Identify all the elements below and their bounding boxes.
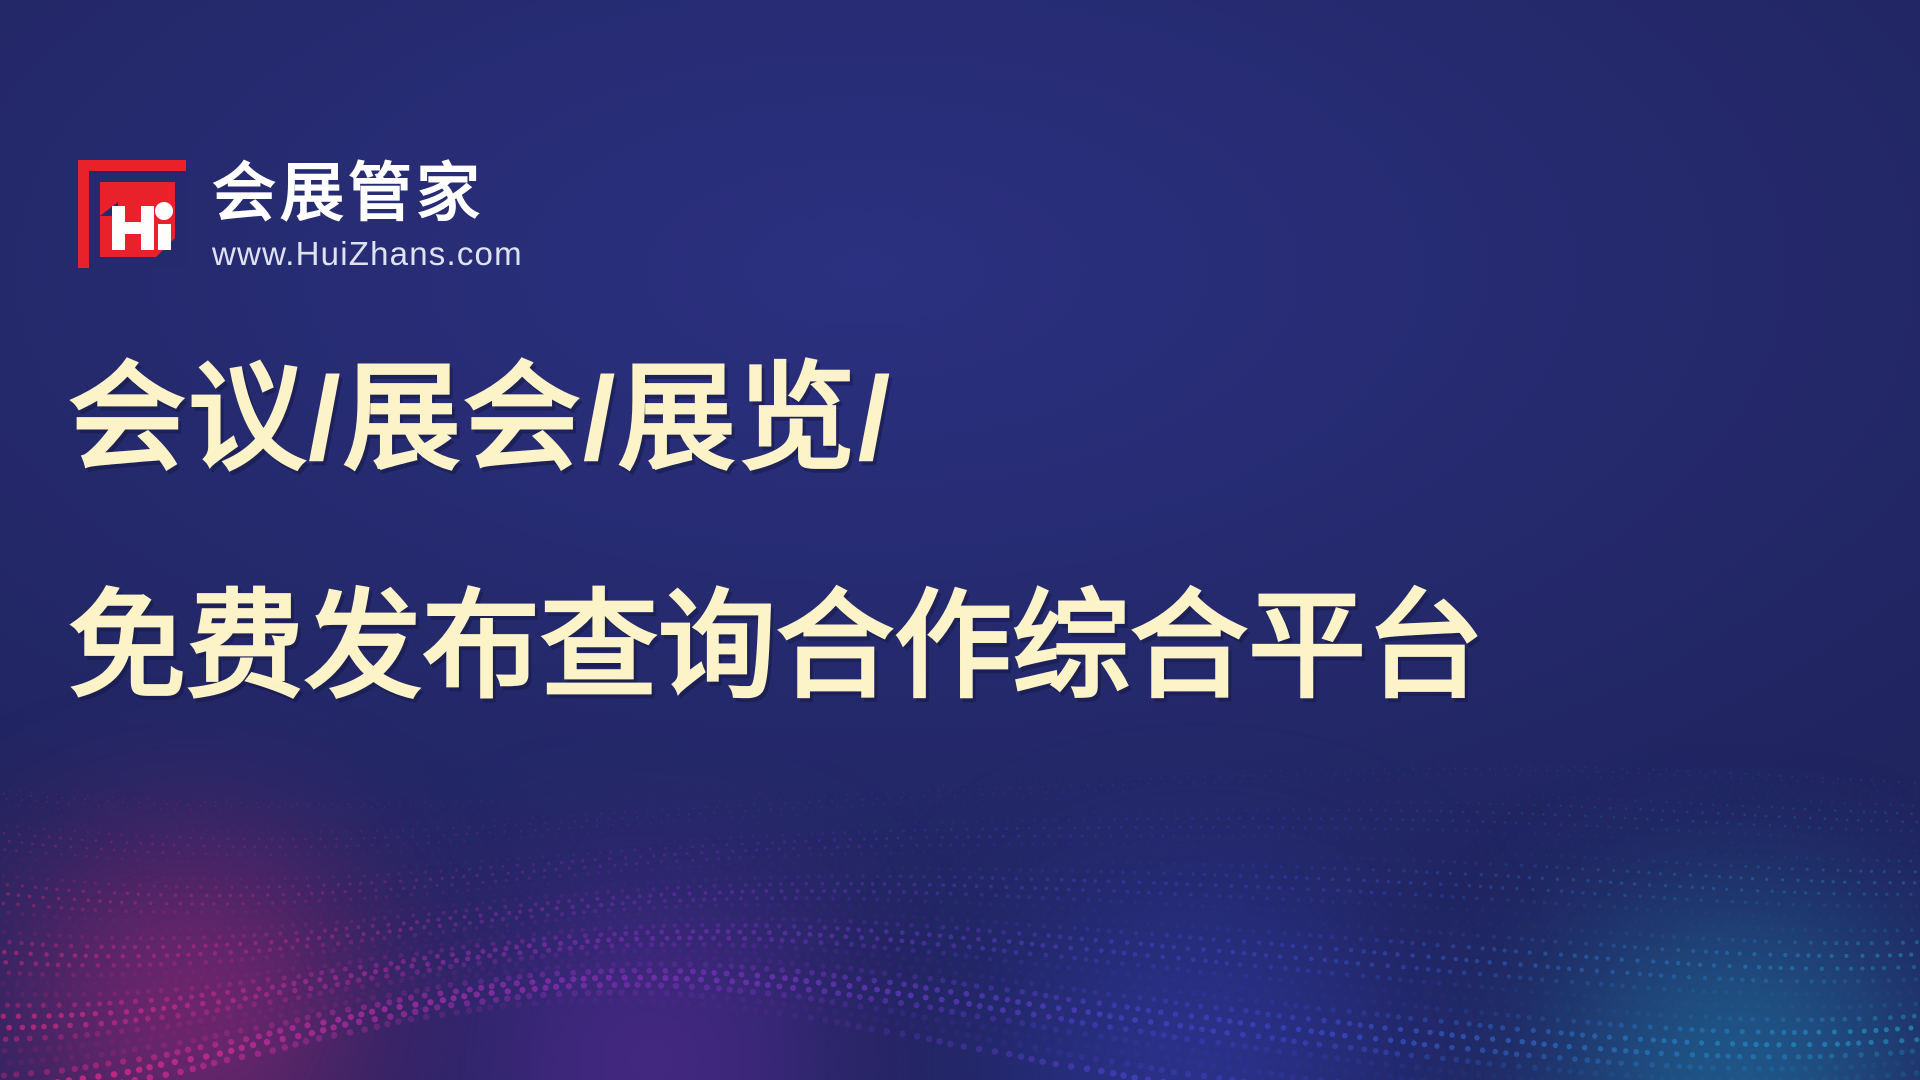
- wave-glow-cyan: [1430, 870, 1920, 1080]
- brand-name: 会展管家: [212, 160, 523, 227]
- headline-line-2: 免费发布查询合作综合平台: [68, 588, 1828, 706]
- headline-line-1: 会议/展会/展览/: [68, 360, 1828, 478]
- wave-glow-magenta: [0, 800, 500, 1080]
- poster-canvas: 会展管家 www.HuiZhans.com 会议/展会/展览/ 免费发布查询合作…: [0, 0, 1920, 1080]
- wave-dot-mesh: [0, 660, 1920, 1080]
- brand-text-block: 会展管家 www.HuiZhans.com: [212, 160, 523, 273]
- particle-wave-field: [0, 660, 1920, 1080]
- wave-glow-purple: [330, 850, 970, 1080]
- wave-glow-blue: [860, 850, 1540, 1080]
- brand-url: www.HuiZhans.com: [212, 235, 523, 273]
- brand-lockup: 会展管家 www.HuiZhans.com: [78, 160, 523, 273]
- hi-square-logo-icon: [78, 160, 186, 268]
- headline-block: 会议/展会/展览/ 免费发布查询合作综合平台: [68, 360, 1828, 706]
